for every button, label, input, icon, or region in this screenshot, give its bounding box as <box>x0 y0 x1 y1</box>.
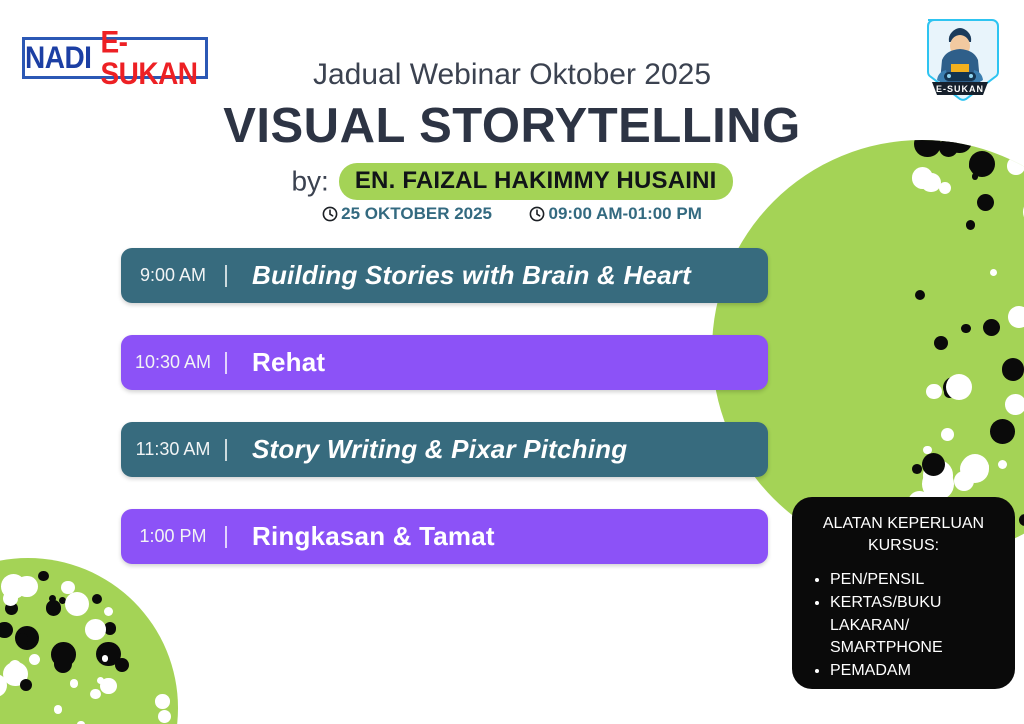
decorative-dot <box>977 461 989 473</box>
decorative-dot <box>54 705 62 713</box>
decorative-dot <box>961 324 970 333</box>
event-meta: 25 OKTOBER 2025 09:00 AM-01:00 PM <box>0 203 1024 224</box>
decorative-dot <box>85 619 106 640</box>
event-time-text: 09:00 AM-01:00 PM <box>548 204 701 224</box>
decorative-dot <box>51 642 75 666</box>
schedule-row-time: 1:00 PM <box>121 526 225 547</box>
decorative-dot <box>158 710 171 723</box>
event-date: 25 OKTOBER 2025 <box>322 204 492 224</box>
decorative-dot <box>102 655 108 661</box>
decorative-dot <box>941 428 954 441</box>
decorative-dot <box>934 336 948 350</box>
decorative-dot <box>38 571 49 582</box>
schedule-row: 1:00 PMRingkasan & Tamat <box>121 509 768 564</box>
schedule-row-title: Ringkasan & Tamat <box>227 521 495 552</box>
speaker-name-pill: EN. FAIZAL HAKIMMY HUSAINI <box>339 163 733 200</box>
materials-box: ALATAN KEPERLUAN KURSUS: PEN/PENSILKERTA… <box>792 497 1015 689</box>
decorative-dot <box>983 319 1000 336</box>
decorative-dot <box>65 592 89 616</box>
decorative-dot <box>0 622 13 638</box>
decorative-dot <box>990 269 997 276</box>
event-date-text: 25 OKTOBER 2025 <box>341 204 492 224</box>
materials-heading-line1: ALATAN KEPERLUAN <box>823 515 984 532</box>
kicker-text: Jadual Webinar Oktober 2025 <box>0 58 1024 92</box>
decorative-dot <box>104 607 114 617</box>
poster-canvas: NADI E-SUKAN E-SUKAN Jadual Webinar Okto… <box>0 0 1024 724</box>
speaker-line: by:EN. FAIZAL HAKIMMY HUSAINI <box>0 163 1024 200</box>
decorative-dot <box>954 471 974 491</box>
schedule-row-time: 9:00 AM <box>121 265 225 286</box>
schedule-row-title: Building Stories with Brain & Heart <box>227 260 691 291</box>
decorative-dot <box>92 594 102 604</box>
decorative-dot <box>20 679 32 691</box>
schedule-list: 9:00 AMBuilding Stories with Brain & Hea… <box>121 248 768 596</box>
decorative-dot <box>1005 394 1024 415</box>
schedule-row-time: 10:30 AM <box>121 352 225 373</box>
by-label: by: <box>291 166 328 197</box>
event-time: 09:00 AM-01:00 PM <box>529 204 701 224</box>
decorative-dot <box>115 658 129 672</box>
decorative-dot <box>17 633 28 644</box>
materials-item: PEMADAM <box>830 660 1001 683</box>
decorative-dot <box>1008 306 1024 328</box>
decorative-dot <box>998 460 1007 469</box>
decorative-dot <box>1019 514 1024 526</box>
schedule-row-title: Story Writing & Pixar Pitching <box>227 434 627 465</box>
decorative-dot <box>946 374 973 401</box>
schedule-row-time: 11:30 AM <box>121 439 225 460</box>
materials-heading: ALATAN KEPERLUAN KURSUS: <box>806 513 1001 557</box>
decorative-dot <box>70 679 79 688</box>
decorative-dot <box>29 654 41 666</box>
decorative-dot <box>990 419 1015 444</box>
decorative-dot <box>915 290 925 300</box>
decorative-dot <box>926 384 941 399</box>
schedule-row: 9:00 AMBuilding Stories with Brain & Hea… <box>121 248 768 303</box>
schedule-row: 10:30 AMRehat <box>121 335 768 390</box>
schedule-row: 11:30 AMStory Writing & Pixar Pitching <box>121 422 768 477</box>
materials-item: PEN/PENSIL <box>830 569 1001 592</box>
materials-item-list: PEN/PENSILKERTAS/BUKU LAKARAN/ SMARTPHON… <box>806 569 1001 683</box>
decorative-dot <box>155 694 169 708</box>
page-title: VISUAL STORYTELLING <box>0 98 1024 154</box>
clock-icon <box>529 206 545 222</box>
decorative-dot <box>90 689 100 699</box>
materials-heading-line2: KURSUS: <box>868 537 939 554</box>
decorative-dot <box>1002 358 1024 380</box>
clock-icon <box>322 206 338 222</box>
decorative-dot <box>912 464 922 474</box>
materials-item: KERTAS/BUKU LAKARAN/ SMARTPHONE <box>830 592 1001 660</box>
schedule-row-title: Rehat <box>227 347 325 378</box>
decorative-dot <box>100 678 116 694</box>
